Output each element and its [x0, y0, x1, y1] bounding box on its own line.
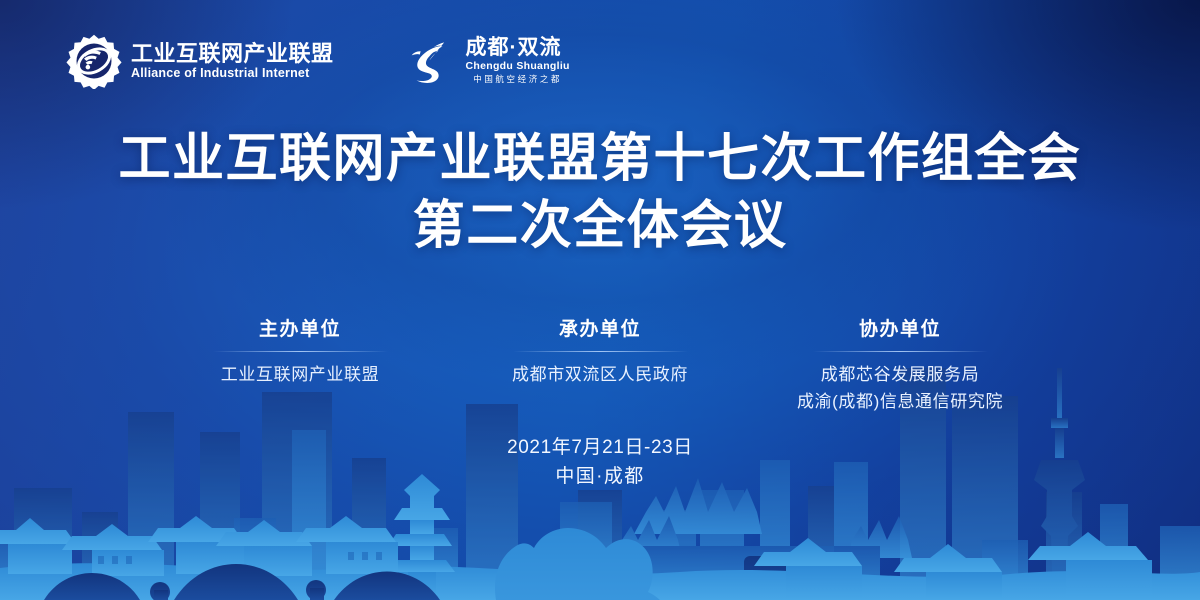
- organizer-name: 成都芯谷发展服务局: [750, 361, 1050, 388]
- event-place: 中国·成都: [0, 462, 1200, 491]
- event-details: 2021年7月21日-23日 中国·成都: [0, 433, 1200, 492]
- chengdu-shuangliu-name-cn: 成都·双流: [466, 36, 570, 60]
- organizer-divider: [813, 351, 988, 352]
- page-title: 工业互联网产业联盟第十七次工作组全会 第二次全体会议: [0, 126, 1200, 259]
- organizer-divider: [513, 351, 688, 352]
- logo-row: 工业互联网产业联盟 Alliance of Industrial Interne…: [66, 33, 570, 89]
- alliance-name-cn: 工业互联网产业联盟: [131, 42, 334, 67]
- organizer-role-label: 协办单位: [750, 318, 1050, 343]
- organizer-name: 成渝(成都)信息通信研究院: [750, 388, 1050, 415]
- gear-wifi-icon: [66, 33, 122, 89]
- organizer-section: 主办单位 工业互联网产业联盟 承办单位 成都市双流区人民政府 协办单位 成都芯谷…: [0, 318, 1200, 415]
- organizer-role-label: 承办单位: [450, 318, 750, 343]
- chengdu-shuangliu-name-en: Chengdu Shuangliu: [466, 60, 570, 74]
- chengdu-shuangliu-swoosh-icon: [405, 35, 459, 87]
- organizer-column-host: 主办单位 工业互联网产业联盟: [150, 318, 450, 388]
- alliance-name-en: Alliance of Industrial Internet: [131, 66, 334, 80]
- event-date: 2021年7月21日-23日: [0, 433, 1200, 462]
- organizer-role-label: 主办单位: [150, 318, 450, 343]
- organizer-name: 工业互联网产业联盟: [150, 361, 450, 388]
- conference-banner: 工业互联网产业联盟 Alliance of Industrial Interne…: [0, 0, 1200, 600]
- title-line-1: 工业互联网产业联盟第十七次工作组全会: [0, 126, 1200, 193]
- organizer-column-undertaker: 承办单位 成都市双流区人民政府: [450, 318, 750, 388]
- chengdu-shuangliu-tagline: 中国航空经济之都: [466, 74, 570, 86]
- organizer-divider: [213, 351, 388, 352]
- logo-alliance-of-industrial-internet: 工业互联网产业联盟 Alliance of Industrial Interne…: [66, 33, 334, 89]
- organizer-column-coorganizer: 协办单位 成都芯谷发展服务局 成渝(成都)信息通信研究院: [750, 318, 1050, 415]
- title-line-2: 第二次全体会议: [0, 193, 1200, 260]
- organizer-name: 成都市双流区人民政府: [450, 361, 750, 388]
- logo-chengdu-shuangliu: 成都·双流 Chengdu Shuangliu 中国航空经济之都: [405, 35, 570, 87]
